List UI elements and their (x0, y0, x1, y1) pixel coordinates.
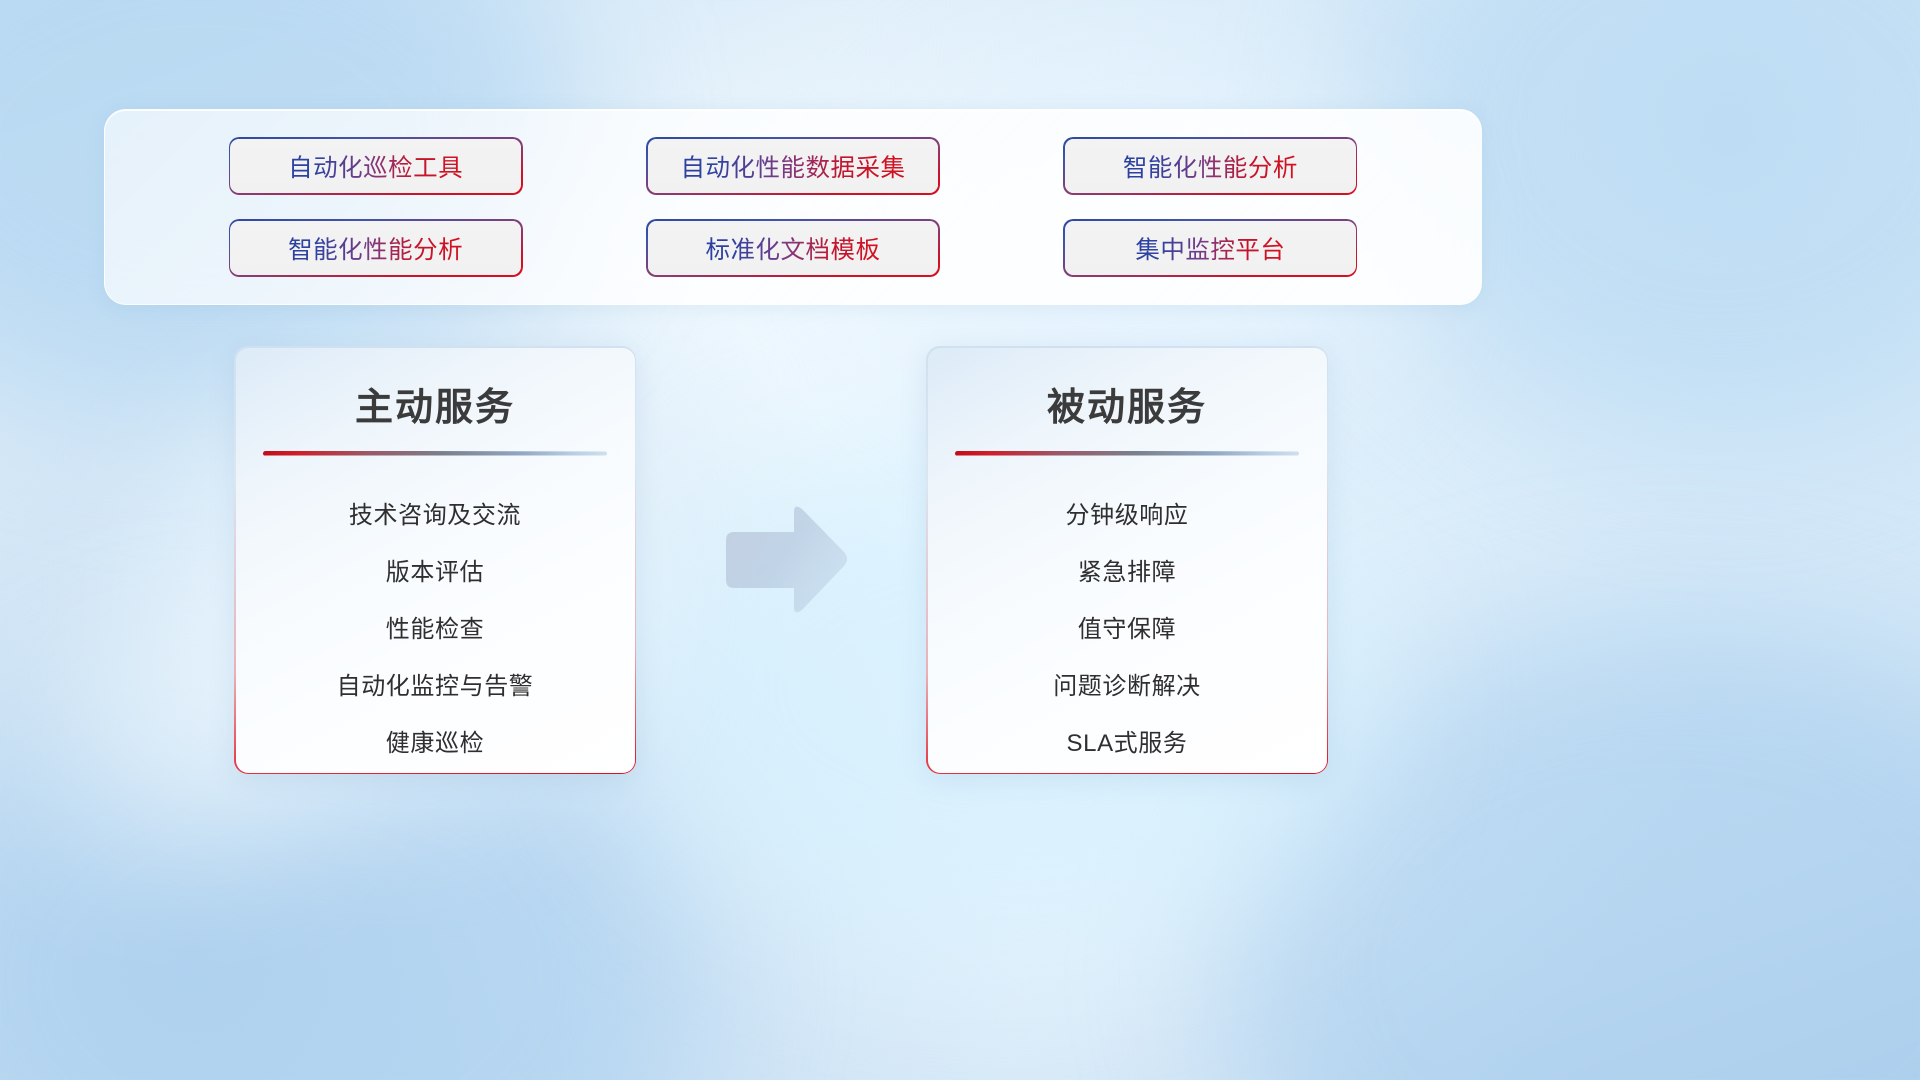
list-item: SLA式服务 (928, 712, 1327, 769)
capability-pill-1[interactable]: 自动化巡检工具 (229, 137, 523, 195)
capability-pill-label: 智能化性能分析 (1123, 149, 1298, 184)
capability-pill-5[interactable]: 标准化文档模板 (646, 219, 940, 277)
list-item: 分钟级响应 (928, 484, 1327, 541)
service-card-reactive[interactable]: 被动服务 分钟级响应 紧急排障 值守保障 问题诊断解决 SLA式服务 (926, 346, 1328, 774)
capability-pill-label: 智能化性能分析 (288, 231, 463, 266)
list-item: 版本评估 (236, 541, 635, 598)
list-item: 值守保障 (928, 598, 1327, 655)
capability-pill-surface: 智能化性能分析 (1065, 139, 1356, 194)
service-card-divider (955, 451, 1299, 456)
capability-pill-label: 集中监控平台 (1135, 231, 1285, 266)
list-item: 问题诊断解决 (928, 655, 1327, 712)
capability-pill-surface: 集中监控平台 (1065, 221, 1356, 276)
service-card-title: 主动服务 (236, 376, 635, 431)
capability-pill-surface: 自动化性能数据采集 (648, 139, 939, 194)
capability-pill-6[interactable]: 集中监控平台 (1063, 219, 1357, 277)
capability-pill-panel: 自动化巡检工具 自动化性能数据采集 智能化性能分析 智能化性能分析 标准化文档模… (104, 109, 1482, 305)
capability-pill-label: 自动化巡检工具 (288, 149, 463, 184)
capability-pill-2[interactable]: 自动化性能数据采集 (646, 137, 940, 195)
service-item-list: 分钟级响应 紧急排障 值守保障 问题诊断解决 SLA式服务 (928, 484, 1327, 769)
service-card-surface: 主动服务 技术咨询及交流 版本评估 性能检查 自动化监控与告警 健康巡检 (236, 348, 635, 773)
arrow-right-icon (718, 502, 848, 618)
capability-pill-surface: 智能化性能分析 (230, 221, 521, 276)
list-item: 性能检查 (236, 598, 635, 655)
capability-pill-grid: 自动化巡检工具 自动化性能数据采集 智能化性能分析 智能化性能分析 标准化文档模… (105, 110, 1481, 304)
list-item: 技术咨询及交流 (236, 484, 635, 541)
list-item: 健康巡检 (236, 712, 635, 769)
capability-pill-4[interactable]: 智能化性能分析 (229, 219, 523, 277)
capability-pill-surface: 自动化巡检工具 (230, 139, 521, 194)
list-item: 紧急排障 (928, 541, 1327, 598)
capability-pill-label: 标准化文档模板 (705, 231, 880, 266)
service-card-divider (263, 451, 607, 456)
service-card-title: 被动服务 (928, 376, 1327, 431)
service-card-proactive[interactable]: 主动服务 技术咨询及交流 版本评估 性能检查 自动化监控与告警 健康巡检 (234, 346, 636, 774)
capability-pill-3[interactable]: 智能化性能分析 (1063, 137, 1357, 195)
capability-pill-label: 自动化性能数据采集 (680, 149, 905, 184)
list-item: 自动化监控与告警 (236, 655, 635, 712)
service-card-surface: 被动服务 分钟级响应 紧急排障 值守保障 问题诊断解决 SLA式服务 (928, 348, 1327, 773)
capability-pill-surface: 标准化文档模板 (648, 221, 939, 276)
service-item-list: 技术咨询及交流 版本评估 性能检查 自动化监控与告警 健康巡检 (236, 484, 635, 769)
